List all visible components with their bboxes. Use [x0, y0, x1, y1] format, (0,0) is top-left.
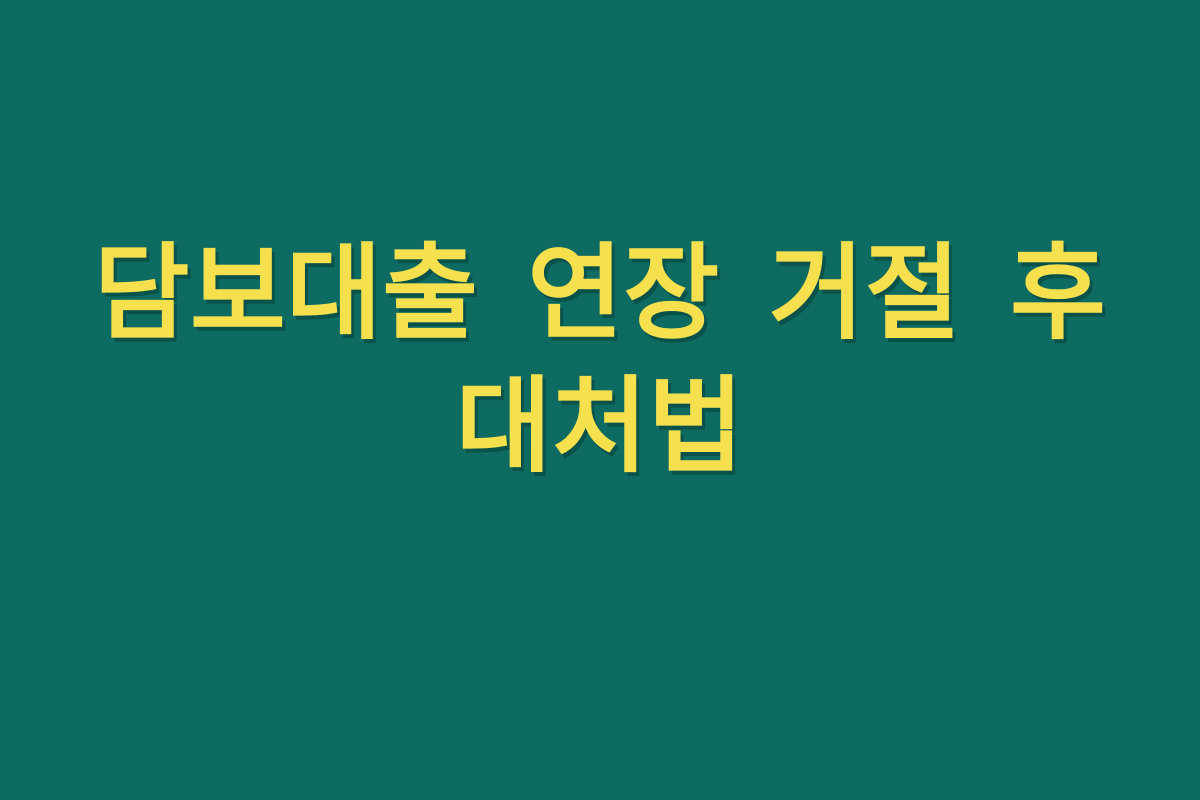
title-line-1: 담보대출 연장 거절 후: [70, 227, 1130, 360]
title-block: 담보대출 연장 거절 후 대처법: [70, 227, 1130, 493]
title-line-2: 대처법: [70, 360, 1130, 493]
poster-canvas: 담보대출 연장 거절 후 대처법: [0, 0, 1200, 800]
